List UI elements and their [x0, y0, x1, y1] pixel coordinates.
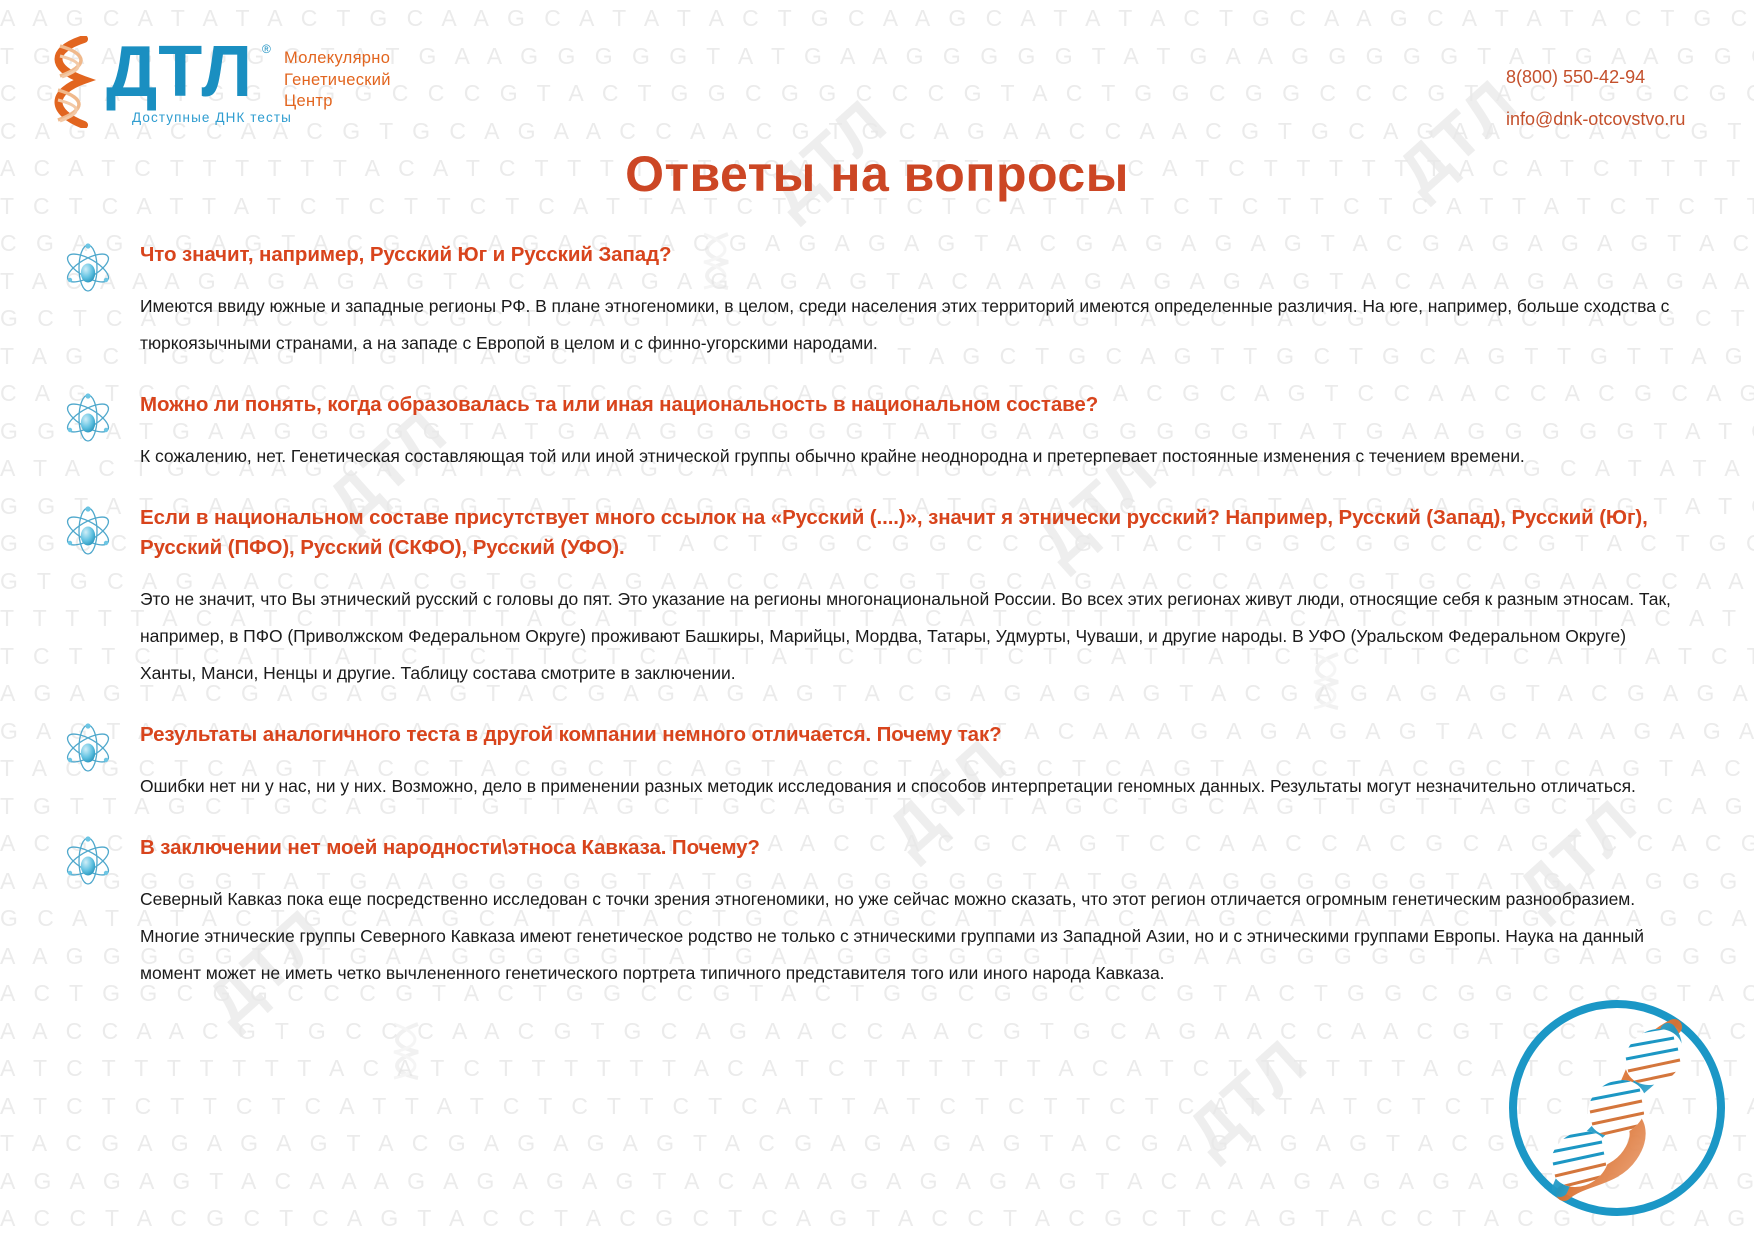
- nucleotide-row: T A C G A G A G A G T A C G A G A G A G …: [0, 1125, 1754, 1163]
- faq-answer: К сожалению, нет. Генетическая составляю…: [140, 438, 1674, 475]
- nucleotide-row: A G T T G T T A G C T G C A G T T G T T …: [0, 1238, 1754, 1241]
- faq-item: Что значит, например, Русский Юг и Русск…: [0, 240, 1754, 362]
- faq-question: Результаты аналогичного теста в другой к…: [140, 720, 1674, 750]
- nucleotide-row: A T C T T T T T T T A C A T C T T T T T …: [0, 1050, 1754, 1088]
- faq-question: Что значит, например, Русский Юг и Русск…: [140, 240, 1674, 270]
- watermark-helix-icon: [380, 1020, 434, 1082]
- contact-info: 8(800) 550-42-94 info@dnk-otcovstvo.ru: [1506, 56, 1706, 140]
- logo-subtitle-line-2: Генетический: [284, 70, 424, 92]
- atom-icon: [62, 392, 114, 444]
- faq-item: Результаты аналогичного теста в другой к…: [0, 720, 1754, 805]
- logo-subtitle: Молекулярно Генетический Центр: [284, 48, 424, 113]
- logo-subtitle-line-3: Центр: [284, 91, 424, 113]
- faq-question: Можно ли понять, когда образовалась та и…: [140, 390, 1674, 420]
- faq-answer: Имеются ввиду южные и западные регионы Р…: [140, 288, 1674, 362]
- nucleotide-row: A T C T C T T C T C A T T A T C T C T T …: [0, 1088, 1754, 1126]
- logo-tagline: Доступные ДНК тесты: [132, 110, 292, 125]
- logo-trademark: ®: [262, 42, 271, 56]
- faq-item: Если в национальном составе присутствует…: [0, 503, 1754, 692]
- faq-item: Можно ли понять, когда образовалась та и…: [0, 390, 1754, 475]
- faq-list: Что значит, например, Русский Юг и Русск…: [0, 240, 1754, 1020]
- nucleotide-row: A C C T A C G C T C A G T A C C T A C G …: [0, 1200, 1754, 1238]
- atom-icon: [62, 242, 114, 294]
- dna-helix-emblem: [1502, 993, 1732, 1223]
- atom-icon: [62, 835, 114, 887]
- nucleotide-row: A G A G A G T A C A A A G A G A G A G T …: [0, 1163, 1754, 1201]
- page-header: ДТЛ ® Доступные ДНК тесты Молекулярно Ге…: [0, 0, 1754, 140]
- atom-icon: [62, 722, 114, 774]
- atom-icon: [62, 505, 114, 557]
- faq-answer: Северный Кавказ пока еще посредственно и…: [140, 881, 1674, 992]
- page-title: Ответы на вопросы: [0, 145, 1754, 203]
- faq-item: В заключении нет моей народности\этноса …: [0, 833, 1754, 992]
- faq-question: Если в национальном составе присутствует…: [140, 503, 1674, 563]
- dna-helix-icon: [44, 36, 100, 128]
- contact-phone[interactable]: 8(800) 550-42-94: [1506, 56, 1706, 98]
- watermark-dtl: ДТЛ: [1172, 1025, 1321, 1170]
- faq-answer: Это не значит, что Вы этнический русский…: [140, 581, 1674, 692]
- company-logo: ДТЛ ® Доступные ДНК тесты Молекулярно Ге…: [44, 34, 384, 134]
- contact-email[interactable]: info@dnk-otcovstvo.ru: [1506, 98, 1706, 140]
- page-root: A A G C A T A T A C T G C A A G C A T A …: [0, 0, 1754, 1241]
- logo-subtitle-line-1: Молекулярно: [284, 48, 424, 70]
- faq-answer: Ошибки нет ни у нас, ни у них. Возможно,…: [140, 768, 1674, 805]
- faq-question: В заключении нет моей народности\этноса …: [140, 833, 1674, 863]
- logo-brand-text: ДТЛ: [106, 34, 253, 110]
